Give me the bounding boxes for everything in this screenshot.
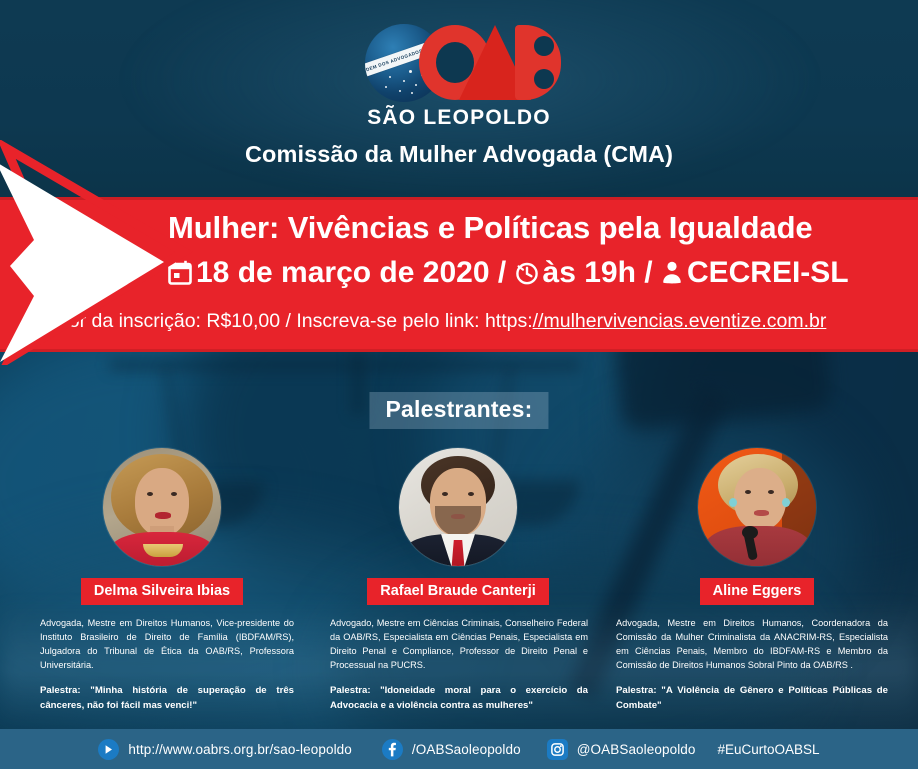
avatar xyxy=(698,448,816,566)
event-poster: ORDEM DOS ADVOGADOS DO BRASIL SÃO LEOPOL… xyxy=(0,0,918,769)
arrow-graphic xyxy=(0,140,198,365)
clock-icon xyxy=(515,259,539,292)
speaker-name-row: Aline Eggers xyxy=(604,566,910,605)
letter-b xyxy=(515,25,561,100)
speaker-bio: Advogada, Mestre em Direitos Humanos, Vi… xyxy=(12,617,312,673)
event-meta: 18 de março de 2020 / às 19h / CECREI-SL xyxy=(168,245,908,292)
logo-city-label: SÃO LEOPOLDO xyxy=(0,106,918,130)
scales-post xyxy=(352,352,364,414)
speaker-bio: Advogado, Mestre em Ciências Criminais, … xyxy=(320,617,596,673)
footer-bar: http://www.oabrs.org.br/sao-leopoldo /OA… xyxy=(0,729,918,769)
facebook-icon xyxy=(382,739,403,760)
footer-website[interactable]: http://www.oabrs.org.br/sao-leopoldo xyxy=(98,739,351,760)
speaker-name-badge: Delma Silveira Ibias xyxy=(81,578,243,605)
footer-instagram-label: @OABSaoleopoldo xyxy=(577,742,696,757)
speaker-card: Rafael Braude Canterji Advogado, Mestre … xyxy=(320,448,596,714)
speaker-bio: Advogada, Mestre em Direitos Humanos, Co… xyxy=(604,617,910,673)
footer-hashtag: #EuCurtoOABSL xyxy=(718,742,820,757)
event-place: CECREI-SL xyxy=(687,256,849,289)
speaker-talk: Palestra: "Minha história de superação d… xyxy=(12,684,312,714)
speakers-list: Delma Silveira Ibias Advogada, Mestre em… xyxy=(0,448,918,728)
footer-website-label: http://www.oabrs.org.br/sao-leopoldo xyxy=(128,742,351,757)
footer-instagram[interactable]: @OABSaoleopoldo xyxy=(547,739,696,760)
footer-facebook-label: /OABSaoleopoldo xyxy=(412,742,521,757)
speaker-name-badge: Aline Eggers xyxy=(700,578,815,605)
oab-logo-icon: ORDEM DOS ADVOGADOS DO BRASIL xyxy=(361,22,557,104)
play-circle-icon xyxy=(98,739,119,760)
meta-sep-2: / xyxy=(636,256,661,289)
oab-letters xyxy=(419,22,559,104)
speaker-card: Aline Eggers Advogada, Mestre em Direito… xyxy=(604,448,910,714)
event-title: Mulher: Vivências e Políticas pela Igual… xyxy=(168,197,908,245)
speaker-card: Delma Silveira Ibias Advogada, Mestre em… xyxy=(12,448,312,714)
avatar xyxy=(103,448,221,566)
registration-url[interactable]: //mulhervivencias.eventize.com.br xyxy=(533,310,827,332)
speakers-section-title: Palestrantes: xyxy=(369,392,548,429)
speaker-name-row: Delma Silveira Ibias xyxy=(12,566,312,605)
location-pin-icon xyxy=(661,259,683,292)
banner-text-block: Mulher: Vivências e Políticas pela Igual… xyxy=(168,197,908,292)
speaker-name-badge: Rafael Braude Canterji xyxy=(367,578,549,605)
speaker-name-row: Rafael Braude Canterji xyxy=(320,566,596,605)
speaker-talk: Palestra: "A Violência de Gênero e Polít… xyxy=(604,684,910,714)
event-date: 18 de março de 2020 xyxy=(196,256,490,289)
meta-sep-1: / xyxy=(490,256,515,289)
instagram-icon xyxy=(547,739,568,760)
footer-facebook[interactable]: /OABSaoleopoldo xyxy=(382,739,521,760)
speaker-talk: Palestra: "Idoneidade moral para o exerc… xyxy=(320,684,596,714)
avatar xyxy=(399,448,517,566)
event-time: às 19h xyxy=(543,256,636,289)
